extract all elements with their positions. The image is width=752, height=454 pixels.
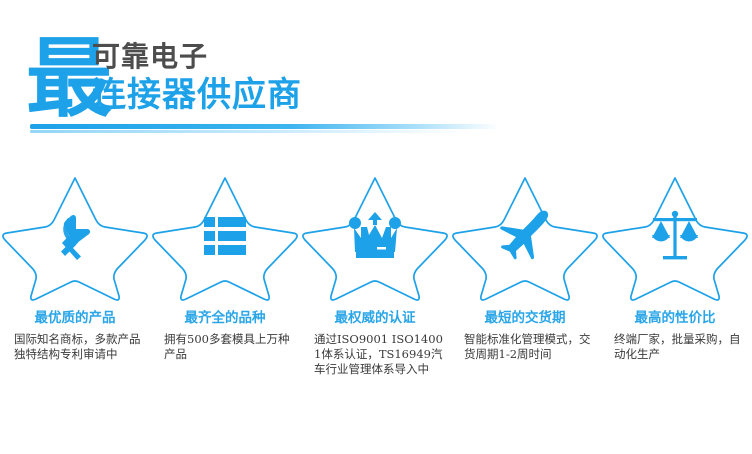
feature-title: 最高的性价比 <box>600 306 750 326</box>
feature-title: 最齐全的品种 <box>150 306 300 326</box>
feature-item: 最权威的认证 通过ISO9001 ISO14001体系认证，TS16949汽车行… <box>300 168 450 398</box>
feature-title: 最权威的认证 <box>300 306 450 326</box>
feature-description: 拥有500多套模具上万种产品 <box>150 332 300 362</box>
headline-line-1: 可靠电子 <box>92 41 422 73</box>
feature-description: 终端厂家，批量采购，自动化生产 <box>600 332 750 362</box>
star-badge <box>600 168 750 303</box>
star-badge <box>150 168 300 303</box>
feature-item: 最优质的产品 国际知名商标，多款产品独特结构专利审请中 <box>0 168 150 398</box>
banner-root: 最 可靠电子 连接器供应商 <box>0 0 752 454</box>
feature-list: 最优质的产品 国际知名商标，多款产品独特结构专利审请中 <box>0 168 752 398</box>
star-badge <box>0 168 150 303</box>
feature-item: 最齐全的品种 拥有500多套模具上万种产品 <box>150 168 300 398</box>
feature-item: 最短的交货期 智能标准化管理模式，交货周期1-2周时间 <box>450 168 600 398</box>
header-divider <box>30 124 500 129</box>
headline-line-2: 连接器供应商 <box>92 75 422 115</box>
feature-description: 国际知名商标，多款产品独特结构专利审请中 <box>0 332 150 362</box>
star-badge <box>450 168 600 303</box>
feature-item: 最高的性价比 终端厂家，批量采购，自动化生产 <box>600 168 750 398</box>
feature-description: 通过ISO9001 ISO14001体系认证，TS16949汽车行业管理体系导入… <box>300 332 450 377</box>
header-divider-glow <box>30 130 470 133</box>
feature-description: 智能标准化管理模式，交货周期1-2周时间 <box>450 332 600 362</box>
banner-header: 最 可靠电子 连接器供应商 <box>0 0 752 140</box>
star-badge <box>300 168 450 303</box>
feature-title: 最优质的产品 <box>0 306 150 326</box>
feature-title: 最短的交货期 <box>450 306 600 326</box>
headline-text-block: 可靠电子 连接器供应商 <box>92 41 422 115</box>
